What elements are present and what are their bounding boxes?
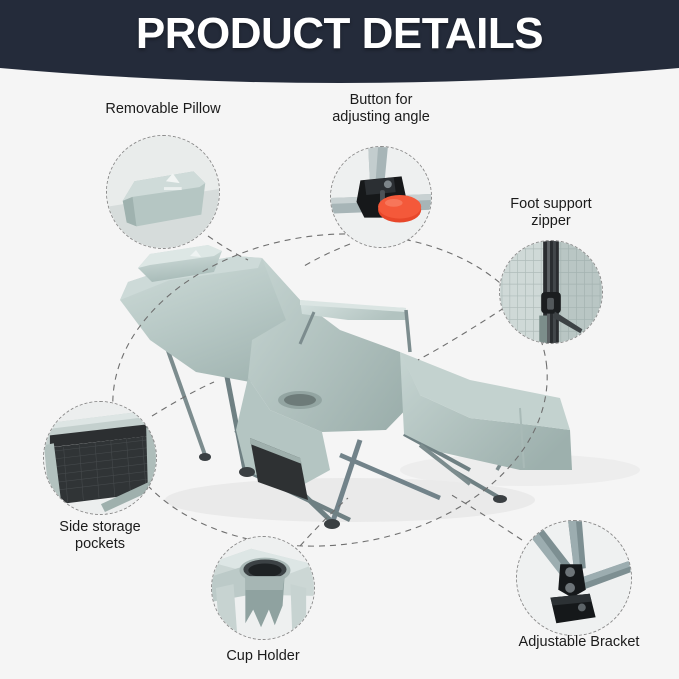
photo-removable-pillow — [107, 136, 219, 248]
photo-cup-holder — [212, 537, 314, 639]
callout-circle-cup-holder — [211, 536, 315, 640]
photo-adjust-button — [331, 147, 431, 247]
photo-adjustable-bracket — [517, 521, 631, 635]
callout-label-cup-holder: Cup Holder — [173, 648, 353, 665]
callout-label-adjustable-bracket: Adjustable Bracket — [484, 634, 674, 651]
callout-label-button-adjusting-angle: Button for adjusting angle — [291, 92, 471, 126]
photo-side-pocket — [44, 402, 156, 514]
header-banner: PRODUCT DETAILS — [0, 0, 679, 96]
callout-circle-button-adjusting-angle — [330, 146, 432, 248]
callout-label-foot-support-zipper: Foot support zipper — [461, 196, 641, 230]
callout-circle-foot-support-zipper — [499, 240, 603, 344]
photo-zipper — [500, 241, 602, 343]
product-details-infographic: PRODUCT DETAILS — [0, 0, 679, 679]
callout-circle-side-storage-pockets — [43, 401, 157, 515]
callout-label-side-storage-pockets: Side storage pockets — [10, 519, 190, 553]
callout-circle-removable-pillow — [106, 135, 220, 249]
callout-label-removable-pillow: Removable Pillow — [53, 101, 273, 118]
callout-circle-adjustable-bracket — [516, 520, 632, 636]
page-title: PRODUCT DETAILS — [0, 12, 679, 56]
